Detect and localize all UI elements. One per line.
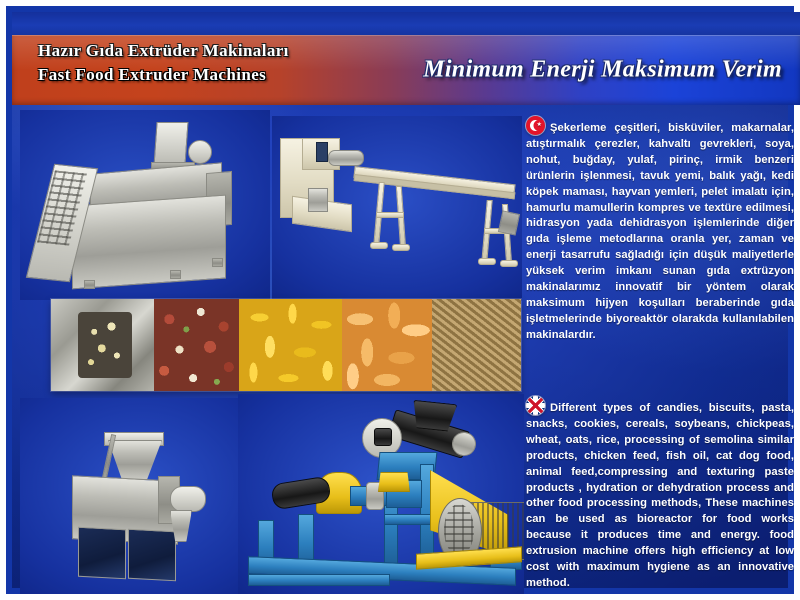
poster-frame: Hazır Gıda Extrüder Makinaları Fast Food… [0,0,800,600]
br-base-foot-rail [248,574,390,586]
bl-window-right [128,529,176,582]
bl-window-left [78,527,126,580]
strip-cell-machine [51,299,154,391]
conveyor-die-head [328,150,364,166]
conveyor-leg-brace [376,212,404,218]
photo-extruder-large [20,110,270,300]
br-motor-fan-grille [444,504,474,556]
star-shape: ★ [537,123,542,128]
conveyor-foot [500,260,518,267]
strip-cell-pellets [432,299,521,391]
photo-machine-bl [20,398,260,594]
poster: Hazır Gıda Extrüder Makinaları Fast Food… [0,0,800,600]
text-block-english: Different types of candies, biscuits, pa… [526,396,794,592]
conveyor-foot [392,244,410,251]
conveyor-foot [370,242,388,249]
photo-conveyor [272,116,522,301]
turkey-flag-icon: ★ [526,116,545,135]
product-strip-cells [51,299,521,391]
extruder-feed-hopper [153,122,188,166]
extruder-drive-wheel [188,140,212,164]
br-feeder-coupling [374,428,392,446]
banner-title-turkish: Hazır Gıda Extrüder Makinaları [38,41,289,61]
banner-slogan: Minimum Enerji Maksimum Verim [423,57,782,84]
product-photo-strip [51,299,521,391]
uk-flag-icon [526,396,545,415]
english-body-text: Different types of candies, biscuits, pa… [526,402,794,589]
br-die-hopper [378,472,410,492]
strip-cell-petfood [154,299,239,391]
br-frame-cross-brace [384,514,434,525]
top-blue-strip [12,12,800,36]
conveyor-control-panel [316,142,328,162]
conveyor-foot [478,258,496,265]
strip-cell-pasta [239,299,342,391]
photo-machine-br [238,394,524,594]
text-block-turkish: ★Şekerleme çeşitleri, bisküviler, makarn… [526,116,794,344]
extruder-foot [170,270,181,279]
turkish-body-text: Şekerleme çeşitleri, bisküviler, makarna… [526,122,794,341]
banner-title-english: Fast Food Extruder Machines [38,65,289,85]
strip-cell-puffs [342,299,431,391]
conveyor-cooling-fins [308,188,328,212]
header-banner: Hazır Gıda Extrüder Makinaları Fast Food… [12,35,800,105]
bl-die-head [170,486,206,512]
banner-slogan-wrap: Minimum Enerji Maksimum Verim [423,57,782,84]
extruder-foot [84,280,95,289]
extruder-base-cabinet [72,195,226,290]
english-paragraph: Different types of candies, biscuits, pa… [526,396,794,592]
turkish-paragraph: ★Şekerleme çeşitleri, bisküviler, makarn… [526,116,794,344]
extruder-foot [212,258,223,267]
banner-titles: Hazır Gıda Extrüder Makinaları Fast Food… [38,41,289,85]
